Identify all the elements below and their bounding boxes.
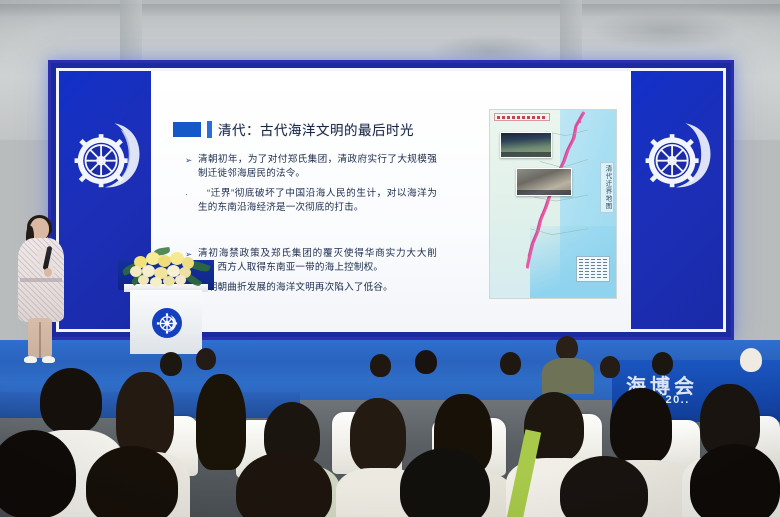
list-item: ➢ 在明朝曲折发展的海洋文明再次陷入了低谷。	[185, 281, 437, 295]
presentation-slide: 清代：古代海洋文明的最后时光 ➢ 清朝初年，为了对付郑氏集团，清政府实行了大规模…	[151, 71, 631, 329]
bullet-text: 清初海禁政策及郑氏集团的覆灭使得华商实力大大削弱，西方人取得东南亚一带的海上控制…	[198, 247, 437, 275]
slide-title-row: 清代：古代海洋文明的最后时光	[173, 119, 414, 139]
audience-member	[556, 336, 578, 360]
slide-bullets-upper: ➢ 清朝初年，为了对付郑氏集团，清政府实行了大规模强制迁徙邻海居民的法令。 · …	[185, 153, 437, 221]
photo-caption-bar	[501, 152, 551, 157]
bullet-arrow-icon: ➢	[185, 153, 198, 181]
bullet-dot-icon: ·	[185, 187, 198, 215]
list-item: ➢ 清初海禁政策及郑氏集团的覆灭使得华商实力大大削弱，西方人取得东南亚一带的海上…	[185, 247, 437, 275]
audience-member	[370, 354, 391, 377]
historical-coastal-map: 清代迁界地图	[489, 109, 617, 299]
speaking-podium	[124, 262, 208, 354]
audience-member-front	[0, 430, 76, 517]
map-legend-table	[576, 256, 610, 282]
audience-member	[415, 350, 437, 374]
presenter-leg-gap	[39, 322, 41, 358]
slide-side-panel-right	[631, 71, 723, 329]
audience-member-front	[400, 448, 490, 517]
audience-member	[600, 356, 620, 378]
gear-swoosh-emblem-icon	[66, 117, 144, 195]
page-title: 清代：古代海洋文明的最后时光	[218, 119, 414, 139]
bullet-text: “迁界”彻底破坏了中国沿海人民的生计，对以海洋为生的东南沿海经济是一次彻底的打击…	[198, 187, 437, 215]
title-accent-block	[173, 122, 201, 137]
presenter-hand	[44, 268, 52, 277]
audience-member	[500, 352, 521, 375]
map-inset-photo-1	[500, 132, 552, 158]
list-item: · “迁界”彻底破坏了中国沿海人民的生计，对以海洋为生的东南沿海经济是一次彻底的…	[185, 187, 437, 215]
audience-member-front	[86, 446, 178, 517]
audience-member	[350, 398, 406, 472]
presenter-speaker	[4, 218, 82, 368]
conference-hall-photo: 清代：古代海洋文明的最后时光 ➢ 清朝初年，为了对付郑氏集团，清政府实行了大规模…	[0, 0, 780, 517]
audience-member	[610, 388, 672, 464]
bullet-text: 在明朝曲折发展的海洋文明再次陷入了低谷。	[198, 281, 393, 295]
audience-member-front	[560, 456, 648, 517]
gear-swoosh-emblem-icon	[637, 117, 715, 195]
flower-arrangement	[120, 246, 214, 290]
audience-member-front	[690, 444, 780, 517]
slide-bullets-lower: ➢ 清初海禁政策及郑氏集团的覆灭使得华商实力大大削弱，西方人取得东南亚一带的海上…	[185, 247, 437, 301]
title-accent-bar	[207, 121, 212, 138]
map-inset-photo-2	[516, 168, 572, 196]
wall-smudge	[590, 10, 740, 50]
map-vertical-caption: 清代迁界地图	[600, 162, 614, 213]
presenter-shoe-right	[42, 356, 55, 363]
audience-member	[196, 348, 216, 370]
audience-member	[740, 348, 762, 372]
audience-member-front	[236, 452, 332, 517]
audience-member	[652, 352, 673, 375]
audience-member	[40, 368, 102, 434]
photo-caption-bar	[517, 190, 571, 195]
presenter-belt	[20, 278, 62, 282]
presenter-shoe-left	[24, 356, 37, 363]
bullet-text: 清朝初年，为了对付郑氏集团，清政府实行了大规模强制迁徙邻海居民的法令。	[198, 153, 437, 181]
map-title-label	[494, 113, 550, 121]
list-item: ➢ 清朝初年，为了对付郑氏集团，清政府实行了大规模强制迁徙邻海居民的法令。	[185, 153, 437, 181]
podium-body	[130, 290, 202, 354]
gear-circle-logo-icon	[152, 308, 182, 338]
